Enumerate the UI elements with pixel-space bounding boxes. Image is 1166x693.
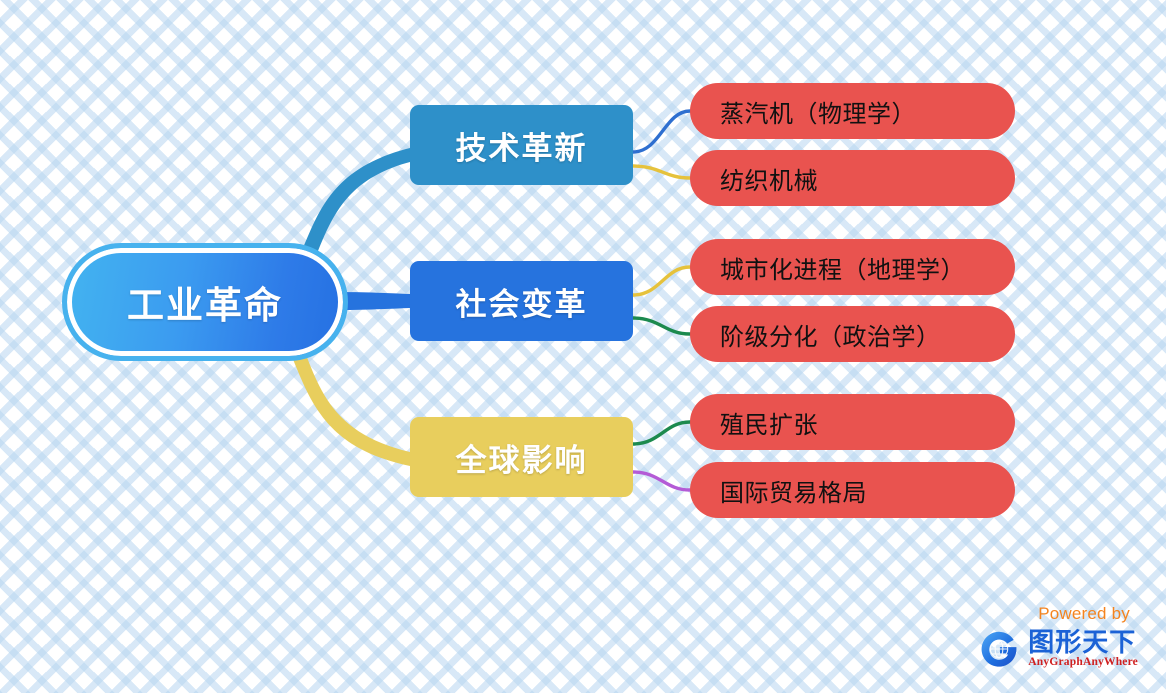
edge-b2-to-l4 xyxy=(633,422,690,444)
watermark-brand-cn: 图形天下 xyxy=(1028,629,1138,655)
mindmap-branch-node-2[interactable]: 全球影响 xyxy=(410,417,633,497)
edge-b2-to-l5 xyxy=(633,472,690,490)
watermark-brand-en: AnyGraphAnyWhere xyxy=(1028,657,1138,669)
mindmap-leaf-label-1: 纺织机械 xyxy=(720,161,818,196)
mindmap-branch-label-1: 社会变革 xyxy=(456,279,588,324)
mindmap-root-node[interactable]: 工业革命 xyxy=(62,243,348,361)
watermark-brand: 图形天下 AnyGraphAnyWhere xyxy=(977,627,1138,671)
mindmap-root-label: 工业革命 xyxy=(127,275,283,329)
watermark: Powered by xyxy=(950,604,1138,671)
edge-b0-to-l1 xyxy=(633,166,690,178)
mindmap-leaf-label-5: 国际贸易格局 xyxy=(720,473,867,508)
watermark-words: 图形天下 AnyGraphAnyWhere xyxy=(1028,629,1138,669)
edge-root-to-b0 xyxy=(300,148,410,266)
mindmap-branch-node-1[interactable]: 社会变革 xyxy=(410,261,633,341)
edge-b1-to-l3 xyxy=(633,318,690,334)
mindmap-leaf-label-2: 城市化进程（地理学） xyxy=(720,250,965,285)
mindmap-branch-node-0[interactable]: 技术革新 xyxy=(410,105,633,185)
mindmap-leaf-label-3: 阶级分化（政治学） xyxy=(720,317,941,352)
mindmap-leaf-label-0: 蒸汽机（物理学） xyxy=(720,94,916,129)
mindmap-leaf-node-3[interactable]: 阶级分化（政治学） xyxy=(690,306,1015,362)
edge-root-to-b1 xyxy=(338,292,410,310)
mindmap-leaf-node-0[interactable]: 蒸汽机（物理学） xyxy=(690,83,1015,139)
watermark-powered-by-text: Powered by xyxy=(1038,604,1130,624)
mindmap-leaf-node-2[interactable]: 城市化进程（地理学） xyxy=(690,239,1015,295)
mindmap-leaf-node-1[interactable]: 纺织机械 xyxy=(690,150,1015,206)
mindmap-leaf-label-4: 殖民扩张 xyxy=(720,405,818,440)
mindmap-canvas: 工业革命 技术革新 社会变革 全球影响 蒸汽机（物理学） 纺织机械 城市化进程（… xyxy=(0,0,1166,693)
mindmap-branch-label-2: 全球影响 xyxy=(456,435,588,480)
mindmap-leaf-node-5[interactable]: 国际贸易格局 xyxy=(690,462,1015,518)
mindmap-leaf-node-4[interactable]: 殖民扩张 xyxy=(690,394,1015,450)
globe-g-logo-icon xyxy=(977,627,1021,671)
mindmap-branch-label-0: 技术革新 xyxy=(456,123,588,168)
edge-b0-to-l0 xyxy=(633,111,690,152)
edge-b1-to-l2 xyxy=(633,267,690,295)
edge-root-to-b2 xyxy=(290,344,410,466)
